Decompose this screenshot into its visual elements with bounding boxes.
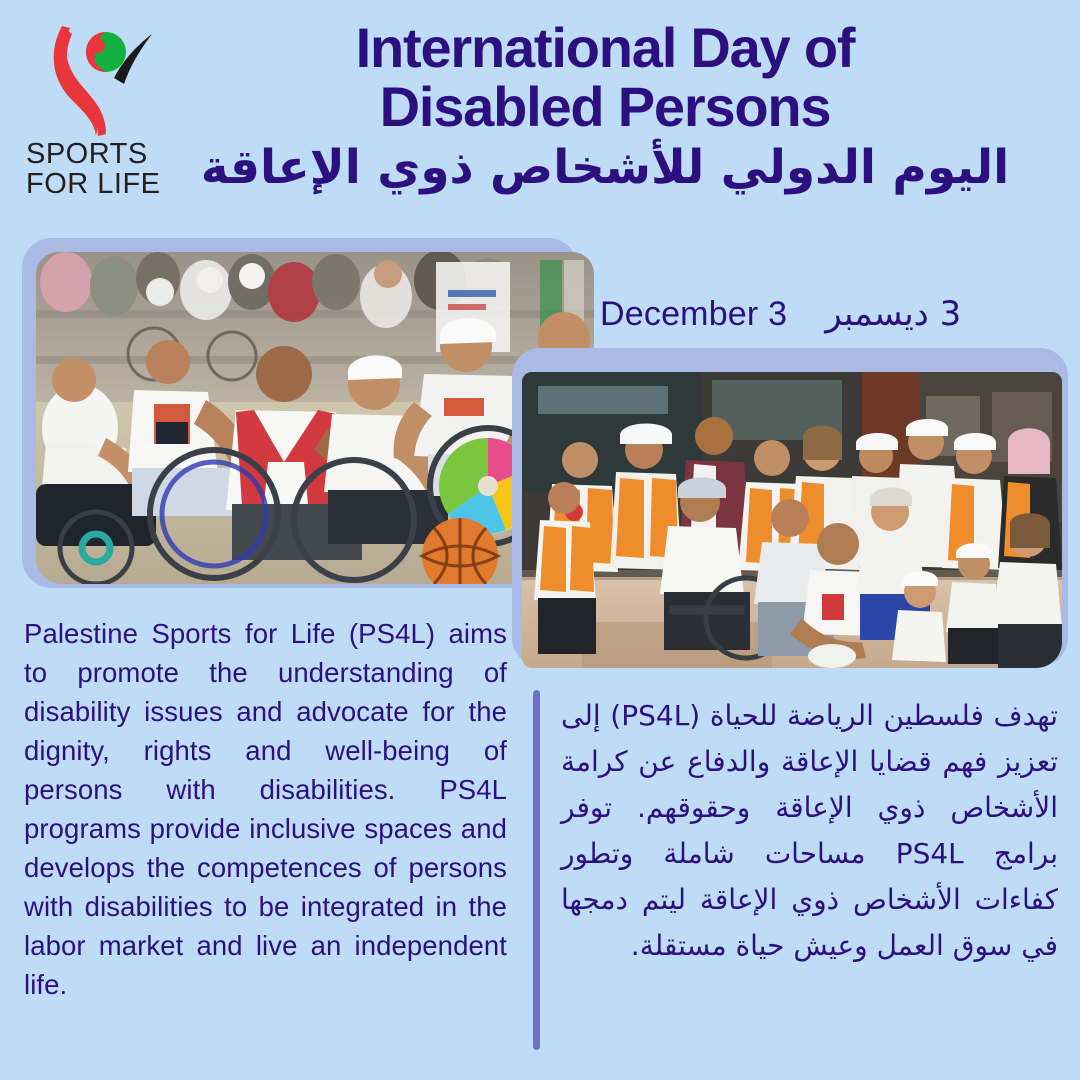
logo-line-1: SPORTS xyxy=(26,140,162,170)
title-english: International Day of Disabled Persons xyxy=(150,18,1060,137)
logo-block: SPORTS FOR LIFE xyxy=(22,16,162,201)
body-text-arabic: تهدف فلسطين الرياضة للحياة (PS4L) إلى تع… xyxy=(561,693,1058,969)
poster-header: SPORTS FOR LIFE International Day of Dis… xyxy=(0,0,1080,225)
title-english-line-2: Disabled Persons xyxy=(150,77,1060,136)
body-text-english: Palestine Sports for Life (PS4L) aims to… xyxy=(24,614,507,1004)
event-date: December 3 3 ديسمبر xyxy=(600,292,1040,336)
title-english-line-1: International Day of xyxy=(150,18,1060,77)
event-date-english: December 3 xyxy=(600,295,787,334)
event-date-arabic: 3 ديسمبر xyxy=(825,294,961,334)
sports-for-life-logo-icon xyxy=(28,16,160,138)
logo-wordmark: SPORTS FOR LIFE xyxy=(26,140,162,200)
column-divider xyxy=(533,690,540,1050)
poster-canvas: SPORTS FOR LIFE International Day of Dis… xyxy=(0,0,1080,1080)
page-title: International Day of Disabled Persons ال… xyxy=(150,18,1060,196)
wheelchair-basketball-photo xyxy=(36,252,594,584)
title-arabic: اليوم الدولي للأشخاص ذوي الإعاقة xyxy=(150,139,1060,196)
group-volunteers-photo xyxy=(522,372,1062,668)
logo-line-2: FOR LIFE xyxy=(26,170,162,200)
